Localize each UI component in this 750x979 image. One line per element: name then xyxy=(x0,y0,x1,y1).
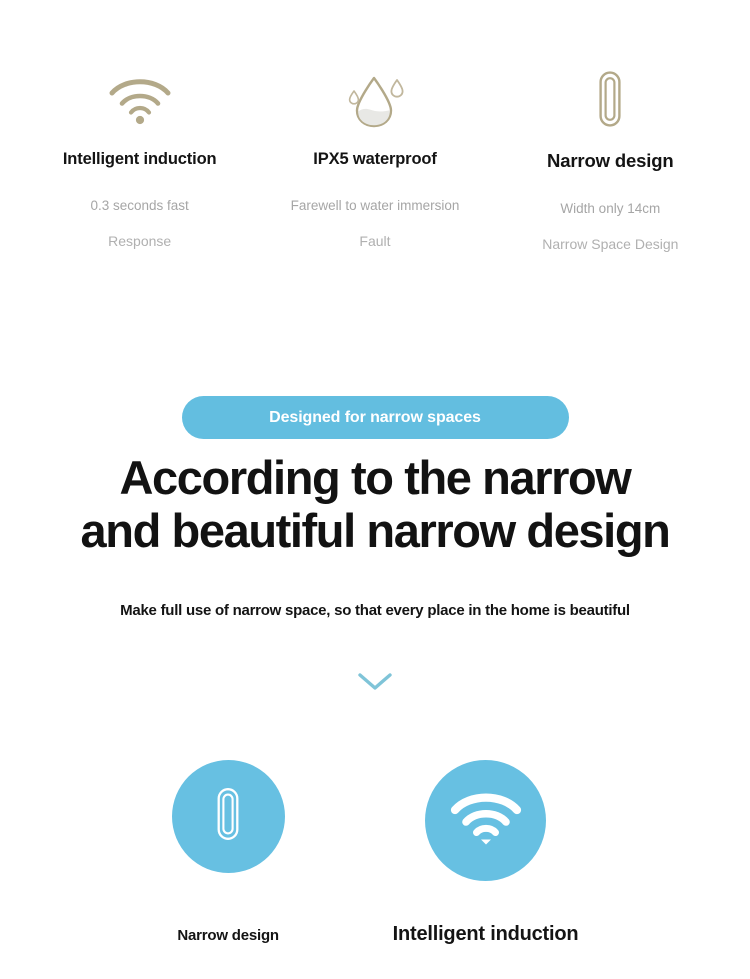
feature-card-intelligent-induction: Intelligent induction 0.3 seconds fast R… xyxy=(22,70,257,248)
feature-subtitle-line-2: Fault xyxy=(359,234,390,248)
badge-label: Designed for narrow spaces xyxy=(269,409,481,427)
feature-card-ipx5-waterproof: IPX5 waterproof Farewell to water immers… xyxy=(257,70,492,248)
feature-title: IPX5 waterproof xyxy=(313,150,436,169)
feature-subtitle-line-1: Width only 14cm xyxy=(560,202,660,216)
feature-row: Intelligent induction 0.3 seconds fast R… xyxy=(0,70,750,251)
feature-icon-container xyxy=(593,70,627,132)
feature-title: Intelligent induction xyxy=(63,150,217,169)
water-drop-icon xyxy=(344,70,406,133)
circle-card-intelligent-induction: Intelligent induction xyxy=(393,760,579,946)
wifi-icon xyxy=(106,73,174,130)
feature-title: Narrow design xyxy=(547,150,674,172)
chevron-container xyxy=(0,670,750,699)
circle-card-narrow-design: Narrow design xyxy=(172,760,285,944)
feature-icon-container xyxy=(106,70,174,132)
headline-line-1: According to the narrow xyxy=(0,452,750,505)
feature-subtitle-line-1: 0.3 seconds fast xyxy=(91,199,189,213)
designed-for-narrow-spaces-badge[interactable]: Designed for narrow spaces xyxy=(182,396,569,439)
feature-subtitle-line-1: Farewell to water immersion xyxy=(291,199,460,213)
circle-label: Narrow design xyxy=(177,927,279,944)
feature-card-narrow-design: Narrow design Width only 14cm Narrow Spa… xyxy=(493,70,728,251)
feature-icon-container xyxy=(344,70,406,132)
narrow-pill-icon xyxy=(213,787,243,846)
badge-container: Designed for narrow spaces xyxy=(0,396,750,439)
headline-line-2: and beautiful narrow design xyxy=(0,505,750,558)
page-subtitle: Make full use of narrow space, so that e… xyxy=(0,602,750,619)
narrow-design-circle[interactable] xyxy=(172,760,285,873)
feature-subtitle-line-2: Response xyxy=(108,234,171,248)
page-title: According to the narrow and beautiful na… xyxy=(0,452,750,557)
intelligent-induction-circle[interactable] xyxy=(425,760,546,881)
product-feature-page: Intelligent induction 0.3 seconds fast R… xyxy=(0,0,750,979)
wifi-icon xyxy=(450,791,522,850)
chevron-down-icon[interactable] xyxy=(356,670,394,699)
narrow-pill-icon xyxy=(593,70,627,133)
bottom-circle-row: Narrow design Intelligent induction xyxy=(0,760,750,946)
circle-label: Intelligent induction xyxy=(393,923,579,946)
feature-subtitle-line-2: Narrow Space Design xyxy=(542,237,678,251)
